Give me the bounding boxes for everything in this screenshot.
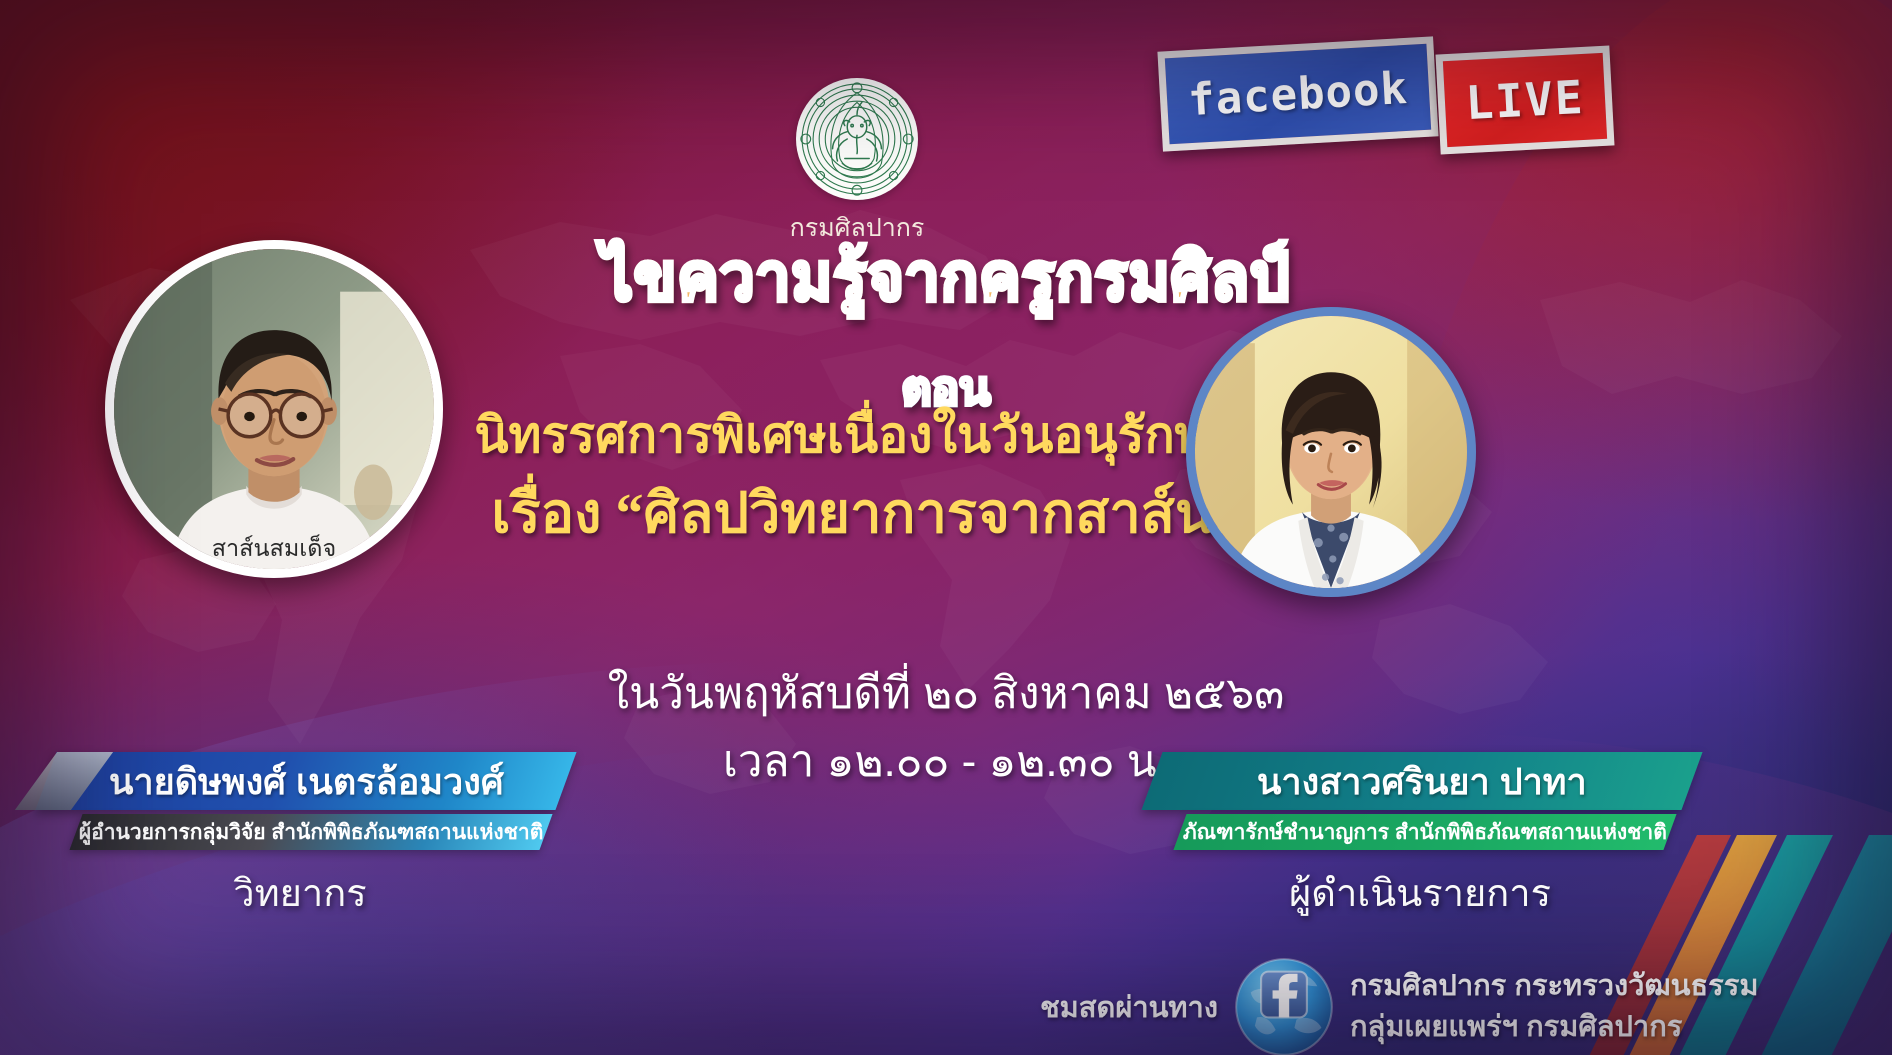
live-badge-label: LIVE (1464, 70, 1585, 130)
facebook-badge-panel: facebook (1157, 36, 1438, 151)
speaker-left-name-bar: นายดิษพงศ์ เนตรล้อมวงศ์ (35, 752, 576, 810)
watch-channel-line-1: กรมศิลปากร กระทรวงวัฒนธรรม (1350, 966, 1758, 1007)
portrait-male-glasses-white-tshirt-image: สาส์นสมเด็จ (114, 249, 434, 569)
event-poster: facebook LIVE (0, 0, 1892, 1055)
watch-label: ชมสดผ่านทาง (1040, 984, 1218, 1030)
watch-channel-block: ชมสดผ่านทาง กรมศิล (1040, 955, 1870, 1055)
event-date: ในวันพฤหัสบดีที่ ๒๐ สิงหาคม ๒๕๖๓ (0, 660, 1892, 728)
watch-channel-lines: กรมศิลปากร กระทรวงวัฒนธรรม กลุ่มเผยแพร่ฯ… (1350, 966, 1758, 1048)
speaker-right-block: นางสาวศรินยา ปาทา ภัณฑารักษ์ชำนาญการ สำน… (1110, 752, 1730, 923)
svg-text:สาส์นสมเด็จ: สาส์นสมเด็จ (212, 533, 337, 562)
speaker-right-role: ผู้ดำเนินรายการ (1110, 862, 1730, 923)
speaker-left-block: นายดิษพงศ์ เนตรล้อมวงศ์ ผู้อำนวยการกลุ่ม… (0, 752, 600, 923)
speaker-right-portrait (1186, 307, 1476, 597)
live-badge-panel: LIVE (1436, 46, 1615, 155)
watch-channel-line-2: กลุ่มเผยแพร่ฯ กรมศิลปากร (1350, 1007, 1758, 1048)
facebook-globe-icon[interactable] (1232, 955, 1336, 1055)
speaker-left-name: นายดิษพงศ์ เนตรล้อมวงศ์ (109, 753, 504, 810)
portrait-female-white-blazer-image (1195, 316, 1467, 588)
speaker-left-title: ผู้อำนวยการกลุ่มวิจัย สำนักพิพิธภัณฑสถาน… (79, 816, 544, 849)
speaker-right-title: ภัณฑารักษ์ชำนาญการ สำนักพิพิธภัณฑสถานแห่… (1183, 816, 1667, 849)
speaker-left-portrait: สาส์นสมเด็จ (105, 240, 443, 578)
speaker-left-bar-tail-1 (15, 752, 113, 810)
speaker-left-role: วิทยากร (0, 862, 600, 923)
speaker-right-name-bar: นางสาวศรินยา ปาทา (1141, 752, 1702, 810)
speaker-right-name: นางสาวศรินยา ปาทา (1257, 753, 1587, 810)
facebook-live-badge: facebook LIVE (1160, 28, 1860, 158)
speaker-left-title-bar: ผู้อำนวยการกลุ่มวิจัย สำนักพิพิธภัณฑสถาน… (69, 814, 552, 850)
speaker-right-title-bar: ภัณฑารักษ์ชำนาญการ สำนักพิพิธภัณฑสถานแห่… (1173, 814, 1676, 850)
program-title: ไขความรู้จากครูกรมศิลป์ (602, 225, 1291, 329)
facebook-badge-label: facebook (1187, 62, 1409, 125)
department-emblem-block: กรมศิลปากร (757, 78, 957, 248)
fine-arts-department-ganesha-seal-icon (796, 78, 918, 200)
